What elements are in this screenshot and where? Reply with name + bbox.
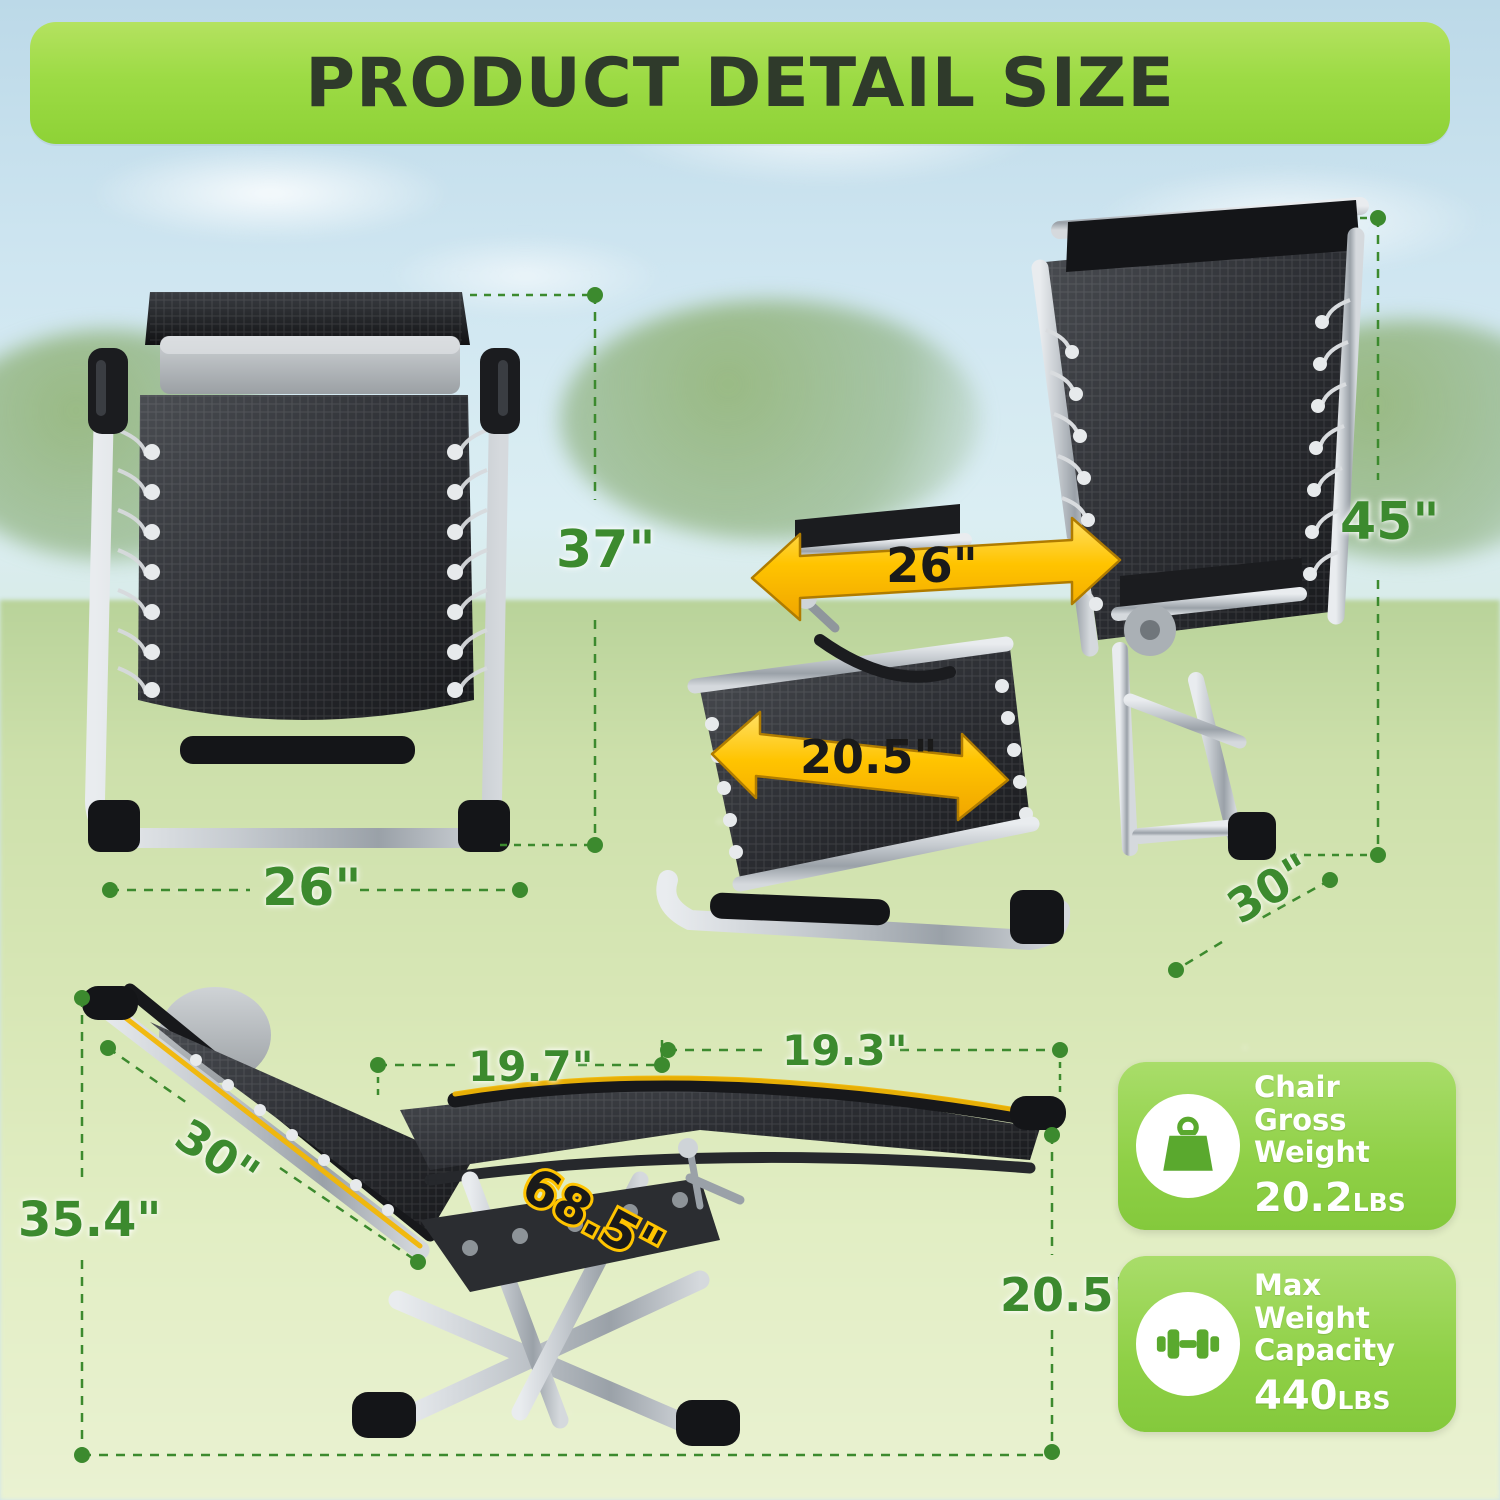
chair-gross-weight-card: Chair Gross Weight 20.2LBS [1118, 1062, 1456, 1230]
dumbbell-icon [1153, 1309, 1223, 1379]
dumbbell-icon-circle [1136, 1292, 1240, 1396]
title-banner: PRODUCT DETAIL SIZE [30, 22, 1450, 144]
dim-reclined-height: 35.4" [18, 1192, 161, 1248]
max-weight-capacity-card: Max Weight Capacity 440LBS [1118, 1256, 1456, 1432]
weight-icon [1155, 1113, 1221, 1179]
tree-blur-center [560, 300, 980, 540]
dim-upright-height: 45" [1340, 492, 1439, 552]
max-weight-capacity-unit: LBS [1338, 1386, 1391, 1415]
dim-reclined-seat-length: 19.7" [468, 1042, 594, 1091]
max-weight-capacity-number: 440 [1254, 1373, 1338, 1419]
arrow-label-seat-depth: 20.5" [800, 730, 937, 784]
chair-gross-weight-unit: LBS [1353, 1188, 1406, 1217]
max-weight-capacity-title-2: Capacity [1254, 1334, 1438, 1366]
chair-gross-weight-value: 20.2LBS [1254, 1175, 1438, 1221]
dim-folded-height: 37" [556, 520, 655, 580]
arrow-label-seat-width: 26" [886, 538, 978, 594]
chair-gross-weight-number: 20.2 [1254, 1175, 1353, 1221]
weight-icon-circle [1136, 1094, 1240, 1198]
chair-gross-weight-texts: Chair Gross Weight 20.2LBS [1254, 1071, 1438, 1220]
chair-gross-weight-title-1: Chair Gross [1254, 1071, 1438, 1136]
max-weight-capacity-title-1: Max Weight [1254, 1269, 1438, 1334]
dim-reclined-seat-height: 20.5" [1000, 1268, 1137, 1322]
page-title: PRODUCT DETAIL SIZE [305, 44, 1175, 123]
chair-gross-weight-title-2: Weight [1254, 1136, 1438, 1168]
max-weight-capacity-value: 440LBS [1254, 1373, 1438, 1419]
max-weight-capacity-texts: Max Weight Capacity 440LBS [1254, 1269, 1438, 1418]
dim-folded-width: 26" [262, 858, 361, 918]
dim-reclined-legrest-length: 19.3" [782, 1026, 908, 1075]
